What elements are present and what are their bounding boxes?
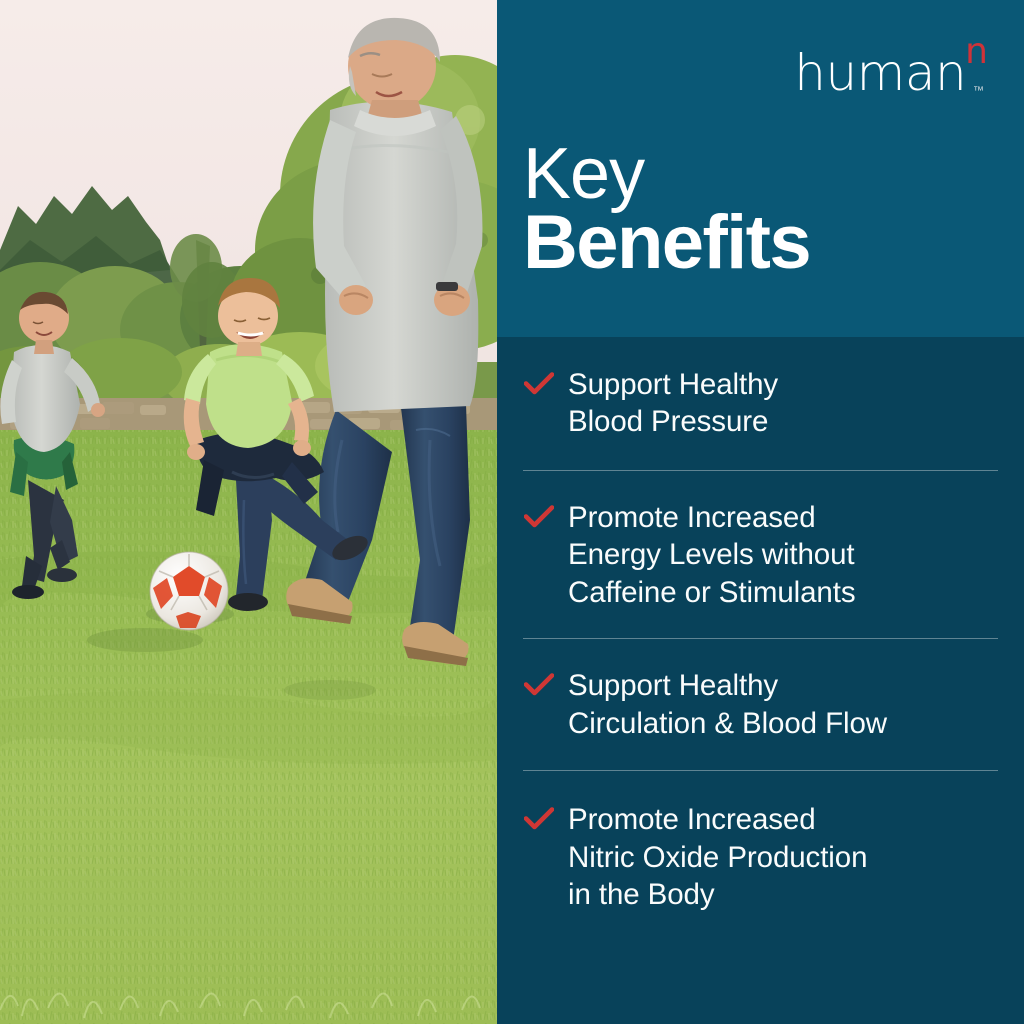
- logo-wordmark: human: [794, 48, 966, 98]
- benefit-text: Support Healthy Circulation & Blood Flow: [568, 667, 996, 742]
- benefits-list: Support Healthy Blood Pressure Promote I…: [497, 337, 1024, 944]
- page-title: Key Benefits: [523, 140, 810, 281]
- benefits-panel: human n ™ Key Benefits Support Healthy B…: [497, 0, 1024, 1024]
- benefit-text: Promote Increased Nitric Oxide Productio…: [568, 801, 996, 913]
- check-icon: [524, 366, 568, 396]
- check-icon: [524, 801, 568, 831]
- title-line-key: Key: [523, 140, 810, 209]
- lifestyle-photo: [0, 0, 497, 1024]
- photo-illustration: [0, 0, 497, 1024]
- check-icon: [524, 667, 568, 697]
- benefit-item-2: Promote Increased Energy Levels without …: [497, 471, 1024, 638]
- benefit-item-3: Support Healthy Circulation & Blood Flow: [497, 639, 1024, 770]
- check-icon: [524, 499, 568, 529]
- title-line-benefits: Benefits: [523, 205, 810, 281]
- key-benefits-poster: human n ™ Key Benefits Support Healthy B…: [0, 0, 1024, 1024]
- brand-logo[interactable]: human n ™: [794, 48, 1000, 98]
- logo-superscript-n: n: [965, 34, 988, 70]
- benefit-item-1: Support Healthy Blood Pressure: [497, 337, 1024, 470]
- logo-trademark-icon: ™: [973, 86, 984, 97]
- benefit-text: Support Healthy Blood Pressure: [568, 366, 996, 441]
- benefit-item-4: Promote Increased Nitric Oxide Productio…: [497, 771, 1024, 943]
- benefit-text: Promote Increased Energy Levels without …: [568, 499, 996, 611]
